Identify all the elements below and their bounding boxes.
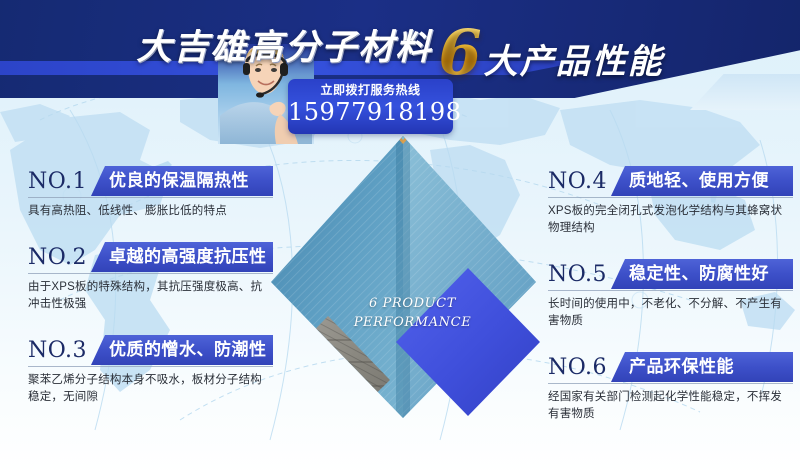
hotline-number: 15977918198 [288, 98, 453, 126]
feature-6-description: 经国家有关部门检测起化学性能稳定，不挥发有害物质 [548, 389, 793, 423]
feature-6-number: NO.6 [548, 355, 611, 380]
feature-4-description: XPS板的完全闭孔式发泡化学结构与其蜂窝状物理结构 [548, 203, 793, 237]
feature-2-rule [28, 273, 273, 274]
feature-item-2: NO.2 卓越的高强度抗压性 由于XPS板的特殊结构，其抗压强度极高、抗冲击性极… [28, 242, 273, 313]
feature-4-title: 质地轻、使用方便 [611, 166, 793, 196]
page-title: 大吉雄高分子材料6大产品性能 [0, 8, 800, 81]
feature-1-title: 优良的保温隔热性 [91, 166, 273, 196]
feature-5-rule [548, 290, 793, 291]
feature-3-head: NO.3 优质的憎水、防潮性 [28, 335, 273, 365]
hotline-box[interactable]: 立即拨打服务热线 15977918198 [288, 79, 453, 134]
title-brand-text: 大吉雄高分子材料 [136, 27, 432, 68]
feature-3-title: 优质的憎水、防潮性 [91, 335, 273, 365]
feature-3-description: 聚苯乙烯分子结构本身不吸水，板材分子结构稳定，无间隙 [28, 372, 273, 406]
feature-6-head: NO.6 产品环保性能 [548, 352, 793, 382]
feature-4-number: NO.4 [548, 169, 611, 194]
feature-2-number: NO.2 [28, 245, 91, 270]
feature-6-rule [548, 383, 793, 384]
feature-1-rule [28, 197, 273, 198]
feature-2-description: 由于XPS板的特殊结构，其抗压强度极高、抗冲击性极强 [28, 279, 273, 313]
feature-5-number: NO.5 [548, 262, 611, 287]
title-suffix-text: 大产品性能 [484, 42, 664, 82]
feature-5-head: NO.5 稳定性、防腐性好 [548, 259, 793, 289]
product-performance-banner: 6 PRODUCT PERFORMANCE 大吉雄高分子材料6大产品性能 [0, 0, 800, 474]
feature-1-description: 具有高热阻、低线性、膨胀比低的特点 [28, 203, 273, 220]
feature-4-rule [548, 197, 793, 198]
feature-3-rule [28, 366, 273, 367]
feature-column-left: NO.1 优良的保温隔热性 具有高热阻、低线性、膨胀比低的特点 NO.2 卓越的… [28, 166, 273, 428]
feature-6-title: 产品环保性能 [611, 352, 793, 382]
feature-1-number: NO.1 [28, 169, 91, 194]
feature-1-head: NO.1 优良的保温隔热性 [28, 166, 273, 196]
feature-2-title: 卓越的高强度抗压性 [91, 242, 273, 272]
feature-2-head: NO.2 卓越的高强度抗压性 [28, 242, 273, 272]
hotline-label: 立即拨打服务热线 [288, 82, 453, 98]
feature-item-1: NO.1 优良的保温隔热性 具有高热阻、低线性、膨胀比低的特点 [28, 166, 273, 220]
feature-item-4: NO.4 质地轻、使用方便 XPS板的完全闭孔式发泡化学结构与其蜂窝状物理结构 [548, 166, 793, 237]
feature-5-title: 稳定性、防腐性好 [611, 259, 793, 289]
feature-column-right: NO.4 质地轻、使用方便 XPS板的完全闭孔式发泡化学结构与其蜂窝状物理结构 … [548, 166, 793, 445]
feature-4-head: NO.4 质地轻、使用方便 [548, 166, 793, 196]
pyramid-diamond-graphic [270, 130, 540, 420]
feature-5-description: 长时间的使用中，不老化、不分解、不产生有害物质 [548, 296, 793, 330]
feature-3-number: NO.3 [28, 338, 91, 363]
feature-item-6: NO.6 产品环保性能 经国家有关部门检测起化学性能稳定，不挥发有害物质 [548, 352, 793, 423]
feature-item-5: NO.5 稳定性、防腐性好 长时间的使用中，不老化、不分解、不产生有害物质 [548, 259, 793, 330]
feature-item-3: NO.3 优质的憎水、防潮性 聚苯乙烯分子结构本身不吸水，板材分子结构稳定，无间… [28, 335, 273, 406]
